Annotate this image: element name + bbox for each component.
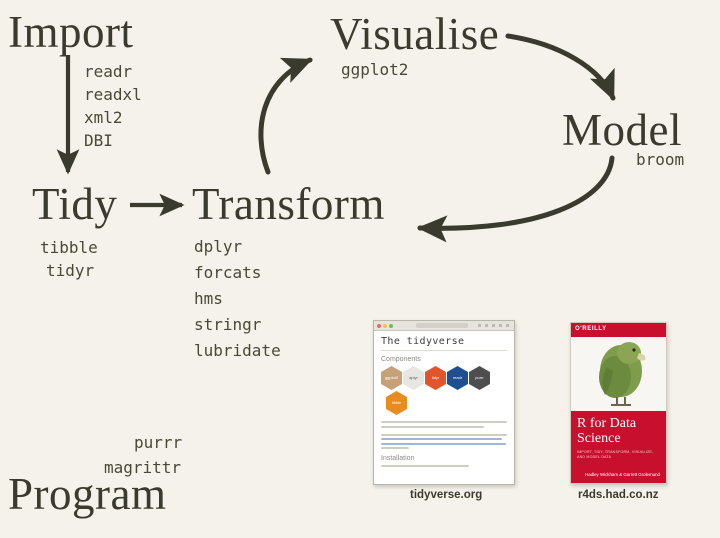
heading-divider xyxy=(381,350,507,351)
arrow-model-to-transform xyxy=(420,158,612,228)
hex-label: ggplot2 xyxy=(385,376,398,380)
package-dbi: DBI xyxy=(84,129,142,152)
kakapo-parrot-art xyxy=(571,337,666,411)
hex-logo-readr[interactable]: readr xyxy=(447,366,468,390)
window-maximize-button[interactable] xyxy=(389,324,393,328)
body-paragraph-two xyxy=(381,434,507,450)
body-paragraph-one xyxy=(381,421,507,428)
browser-toolbar-icon[interactable] xyxy=(478,324,481,327)
browser-toolbar-icon[interactable] xyxy=(492,324,495,327)
hex-label: tibble xyxy=(392,401,402,405)
package-list-import: readr readxl xml2 DBI xyxy=(84,60,142,152)
book-authors: Hadley Wickham & Garrett Grolemund xyxy=(585,472,660,478)
package-readr: readr xyxy=(84,60,142,83)
arrow-transform-to-visualise xyxy=(261,60,310,172)
stage-label-transform: Transform xyxy=(192,182,385,227)
package-tidyr: tidyr xyxy=(46,259,98,282)
browser-chrome xyxy=(374,321,514,331)
package-readxl: readxl xyxy=(84,83,142,106)
hex-label: tidyr xyxy=(432,376,440,380)
arrow-visualise-to-model xyxy=(508,36,613,98)
package-magrittr: magrittr xyxy=(104,455,182,480)
package-list-program: purrr magrittr xyxy=(104,430,182,480)
caption-r4ds: r4ds.had.co.nz xyxy=(578,489,659,501)
package-forcats: forcats xyxy=(194,260,281,286)
book-title: R for Data Science xyxy=(577,416,660,446)
kakapo-illustration xyxy=(571,337,666,411)
stage-label-import: Import xyxy=(8,10,133,55)
package-stringr: stringr xyxy=(194,312,281,338)
hex-label: purrr xyxy=(475,376,483,380)
hex-logo-row-second: tibble xyxy=(386,391,507,415)
package-broom: broom xyxy=(636,152,684,168)
book-title-block: R for Data Science IMPORT, TIDY, TRANSFO… xyxy=(571,411,666,483)
stage-label-model: Model xyxy=(562,108,682,153)
package-lubridate: lubridate xyxy=(194,338,281,364)
hex-logo-dplyr[interactable]: dplyr xyxy=(403,366,424,390)
browser-toolbar-icon[interactable] xyxy=(485,324,488,327)
browser-toolbar-icon[interactable] xyxy=(499,324,502,327)
hex-logo-ggplot2[interactable]: ggplot2 xyxy=(381,366,402,390)
package-dplyr: dplyr xyxy=(194,234,281,260)
book-subtitle: IMPORT, TIDY, TRANSFORM, VISUALIZE, AND … xyxy=(577,450,660,460)
hex-logo-purrr[interactable]: purrr xyxy=(469,366,490,390)
hex-logo-row: ggplot2 dplyr tidyr readr purrr xyxy=(381,366,507,390)
browser-address-bar[interactable] xyxy=(416,323,468,328)
hex-label: readr xyxy=(453,376,462,380)
tidyverse-workflow-diagram: Import Tidy Transform Visualise Model Pr… xyxy=(0,0,720,538)
package-list-tidy: tibble tidyr xyxy=(40,236,98,282)
window-minimize-button[interactable] xyxy=(383,324,387,328)
browser-toolbar-icon[interactable] xyxy=(506,324,509,327)
hex-label: dplyr xyxy=(409,376,418,380)
tidyverse-website-thumbnail[interactable]: The tidyverse Components ggplot2 dplyr t… xyxy=(373,320,515,485)
stage-label-visualise: Visualise xyxy=(330,12,499,57)
package-ggplot2: ggplot2 xyxy=(341,62,408,78)
oreilly-banner: O'REILLY xyxy=(571,323,666,337)
window-close-button[interactable] xyxy=(377,324,381,328)
stage-label-tidy: Tidy xyxy=(32,182,117,227)
publisher-logo: O'REILLY xyxy=(575,326,607,332)
section-heading-components: Components xyxy=(381,356,507,363)
package-xml2: xml2 xyxy=(84,106,142,129)
package-list-transform: dplyr forcats hms stringr lubridate xyxy=(194,234,281,364)
section-heading-installation: Installation xyxy=(381,455,507,462)
browser-page-content: The tidyverse Components ggplot2 dplyr t… xyxy=(374,331,514,485)
package-tibble: tibble xyxy=(40,236,98,259)
r4ds-book-cover-thumbnail[interactable]: O'REILLY R for Data Science IMPORT, TIDY… xyxy=(570,322,667,484)
hex-logo-tibble[interactable]: tibble xyxy=(386,391,407,415)
package-hms: hms xyxy=(194,286,281,312)
page-heading: The tidyverse xyxy=(381,336,507,347)
hex-logo-tidyr[interactable]: tidyr xyxy=(425,366,446,390)
caption-tidyverse-org: tidyverse.org xyxy=(410,489,482,501)
package-purrr: purrr xyxy=(134,430,182,455)
